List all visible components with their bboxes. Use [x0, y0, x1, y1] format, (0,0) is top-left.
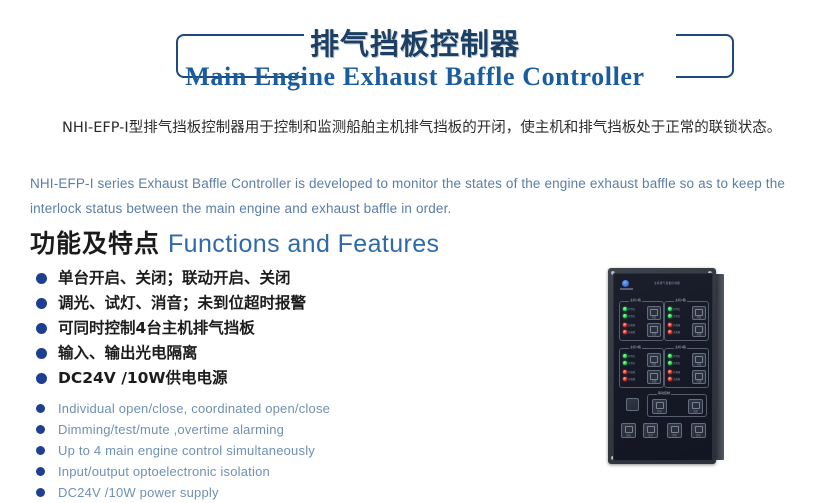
list-item: Dimming/test/mute ,overtime alarming — [30, 419, 330, 440]
channel-title: 主机3路 — [629, 345, 642, 349]
led-open-ok — [668, 307, 672, 311]
led-label: 开故障 — [673, 370, 680, 374]
button-label: 开启 — [653, 409, 666, 413]
bullet-dot-icon — [36, 373, 47, 384]
mute-button[interactable]: 消音 — [667, 423, 682, 438]
led-close-ok — [668, 314, 672, 318]
led-label: 关到位 — [628, 361, 635, 365]
close-button[interactable]: 关闭 — [647, 323, 661, 337]
list-item-label: 输入、输出光电隔离 — [58, 344, 198, 362]
manufacturer-logo-icon — [622, 280, 629, 287]
device-branding: 主机排气挡板控制器 — [620, 279, 706, 293]
dimming-button[interactable]: 调光 — [621, 423, 636, 438]
button-label: 消音 — [668, 433, 681, 437]
intro-paragraph-chinese: NHI-EFP-Ⅰ型排气挡板控制器用于控制和监测船舶主机排气挡板的开闭，使主机和… — [30, 115, 820, 141]
channel-group-3: 主机3路 开到位 关到位 开故障 关故障 开启 关闭 — [619, 348, 664, 388]
led-label: 开到位 — [628, 307, 635, 311]
bullet-dot-icon — [36, 323, 47, 334]
section-heading-english: Functions and Features — [168, 230, 439, 258]
led-label: 关到位 — [628, 314, 635, 318]
device-model-label: 主机排气挡板控制器 — [654, 281, 680, 285]
open-button[interactable]: 开启 — [647, 353, 661, 367]
button-label: 关闭 — [648, 379, 660, 383]
section-heading: 功能及特点Functions and Features — [30, 224, 439, 260]
bullet-dot-icon — [36, 446, 45, 455]
list-item-label: 可同时控制4台主机排气挡板 — [58, 319, 255, 337]
led-open-ok — [668, 354, 672, 358]
button-label: 关闭 — [693, 379, 705, 383]
list-item-label: Up to 4 main engine control simultaneous… — [58, 443, 315, 458]
led-close-fault — [668, 330, 672, 334]
led-label: 关故障 — [628, 330, 635, 334]
list-item: DC24V /10W供电电源 — [30, 366, 306, 391]
bullet-dot-icon — [36, 425, 45, 434]
list-item-label: Input/output optoelectronic isolation — [58, 464, 270, 479]
bullet-dot-icon — [36, 348, 47, 359]
list-item: 可同时控制4台主机排气挡板 — [30, 316, 306, 341]
device-front-panel: 主机排气挡板控制器 主机1路 开到位 关到位 开故障 关故障 开启 — [613, 273, 713, 461]
list-item: Up to 4 main engine control simultaneous… — [30, 440, 330, 461]
reset-button[interactable]: 复位 — [691, 423, 706, 438]
led-open-fault — [668, 323, 672, 327]
led-label: 开到位 — [673, 307, 680, 311]
manufacturer-name-plate — [620, 288, 633, 290]
list-item: 单台开启、关闭；联动开启、关闭 — [30, 266, 306, 291]
button-label: 关闭 — [648, 332, 660, 336]
button-label: 调光 — [622, 433, 635, 437]
list-item: Individual open/close, coordinated open/… — [30, 398, 330, 419]
led-label: 开故障 — [628, 370, 635, 374]
coordinated-control-title: 联动控制 — [657, 391, 671, 395]
button-label: 关闭 — [693, 332, 705, 336]
bullet-dot-icon — [36, 488, 45, 497]
led-close-fault — [623, 377, 627, 381]
coordinated-open-button[interactable]: 开启 — [652, 399, 667, 414]
led-label: 关到位 — [673, 361, 680, 365]
led-close-fault — [668, 377, 672, 381]
button-label: 开启 — [693, 315, 705, 319]
led-open-fault — [623, 370, 627, 374]
led-open-ok — [623, 307, 627, 311]
led-label: 关故障 — [628, 377, 635, 381]
device-faceplate: 主机排气挡板控制器 主机1路 开到位 关到位 开故障 关故障 开启 — [608, 268, 716, 464]
bullet-dot-icon — [36, 404, 45, 413]
list-item: DC24V /10W power supply — [30, 482, 330, 503]
led-label: 开故障 — [673, 323, 680, 327]
bullet-dot-icon — [36, 467, 45, 476]
led-label: 关到位 — [673, 314, 680, 318]
open-button[interactable]: 开启 — [692, 353, 706, 367]
list-item-label: 单台开启、关闭；联动开启、关闭 — [58, 269, 291, 287]
close-button[interactable]: 关闭 — [692, 323, 706, 337]
button-label: 开启 — [693, 362, 705, 366]
channel-title: 主机4路 — [674, 345, 687, 349]
channel-group-1: 主机1路 开到位 关到位 开故障 关故障 开启 关闭 — [619, 301, 664, 341]
list-item: Input/output optoelectronic isolation — [30, 461, 330, 482]
channel-title: 主机2路 — [674, 298, 687, 302]
button-label: 复位 — [692, 433, 705, 437]
list-item: 输入、输出光电隔离 — [30, 341, 306, 366]
close-button[interactable]: 关闭 — [692, 370, 706, 384]
coordinated-control-group: 联动控制 开启 关闭 — [647, 394, 707, 417]
button-label: 关闭 — [689, 409, 702, 413]
bullet-dot-icon — [36, 298, 47, 309]
button-label: 试灯 — [644, 433, 657, 437]
close-button[interactable]: 关闭 — [647, 370, 661, 384]
list-item: 调光、试灯、消音；未到位超时报警 — [30, 291, 306, 316]
list-item-label: Individual open/close, coordinated open/… — [58, 401, 330, 416]
led-open-fault — [623, 323, 627, 327]
open-button[interactable]: 开启 — [692, 306, 706, 320]
channel-group-4: 主机4路 开到位 关到位 开故障 关故障 开启 关闭 — [664, 348, 709, 388]
spare-key[interactable] — [626, 398, 639, 411]
led-label: 开故障 — [628, 323, 635, 327]
led-close-ok — [623, 361, 627, 365]
led-close-fault — [623, 330, 627, 334]
led-label: 关故障 — [673, 377, 680, 381]
product-image: 主机排气挡板控制器 主机1路 开到位 关到位 开故障 关故障 开启 — [604, 268, 809, 496]
button-label: 开启 — [648, 315, 660, 319]
coordinated-close-button[interactable]: 关闭 — [688, 399, 703, 414]
channel-title: 主机1路 — [629, 298, 642, 302]
lamp-test-button[interactable]: 试灯 — [643, 423, 658, 438]
led-label: 开到位 — [673, 354, 680, 358]
list-item-label: Dimming/test/mute ,overtime alarming — [58, 422, 284, 437]
led-open-ok — [623, 354, 627, 358]
open-button[interactable]: 开启 — [647, 306, 661, 320]
led-label: 关故障 — [673, 330, 680, 334]
features-list-chinese: 单台开启、关闭；联动开启、关闭 调光、试灯、消音；未到位超时报警 可同时控制4台… — [30, 266, 306, 391]
intro-paragraph-english: NHI-EFP-I series Exhaust Baffle Controll… — [30, 171, 820, 221]
list-item-label: DC24V /10W power supply — [58, 485, 219, 500]
section-heading-chinese: 功能及特点 — [30, 229, 160, 258]
bullet-dot-icon — [36, 273, 47, 284]
page-title-english: Main Engine Exhaust Baffle Controller — [0, 64, 830, 90]
button-label: 开启 — [648, 362, 660, 366]
channel-group-2: 主机2路 开到位 关到位 开故障 关故障 开启 关闭 — [664, 301, 709, 341]
list-item-label: DC24V /10W供电电源 — [58, 369, 228, 387]
led-close-ok — [623, 314, 627, 318]
led-label: 开到位 — [628, 354, 635, 358]
led-close-ok — [668, 361, 672, 365]
list-item-label: 调光、试灯、消音；未到位超时报警 — [58, 294, 306, 312]
page-title-chinese: 排气挡板控制器 — [0, 30, 830, 59]
features-list-english: Individual open/close, coordinated open/… — [30, 398, 330, 503]
page-header: 排气挡板控制器 Main Engine Exhaust Baffle Contr… — [0, 14, 830, 92]
led-open-fault — [668, 370, 672, 374]
